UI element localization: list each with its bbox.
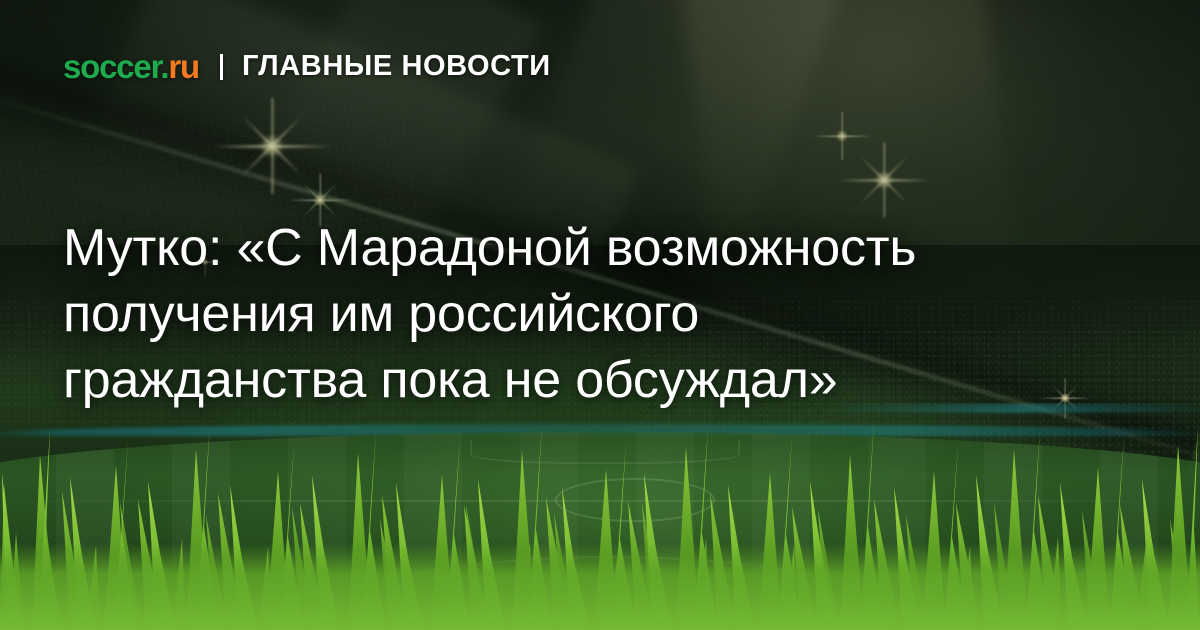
- headline-line: гражданства пока не обсуждал»: [63, 347, 1133, 413]
- page-title: Мутко: «С Марадоной возможность получени…: [63, 215, 1133, 413]
- foreground-grass: [0, 415, 1200, 630]
- site-logo[interactable]: soccer.ru: [63, 50, 199, 83]
- logo-text-orange: ru: [168, 48, 199, 85]
- header-separator: [220, 54, 223, 80]
- header-kicker: ГЛАВНЫЕ НОВОСТИ: [242, 50, 551, 83]
- headline-line: Мутко: «С Марадоной возможность: [63, 215, 1133, 281]
- news-share-card: soccer.ru ГЛАВНЫЕ НОВОСТИ Мутко: «С Мара…: [0, 0, 1200, 630]
- logo-text-green: soccer.: [63, 48, 168, 85]
- headline-line: получения им российского: [63, 281, 1133, 347]
- card-header: soccer.ru ГЛАВНЫЕ НОВОСТИ: [63, 50, 551, 83]
